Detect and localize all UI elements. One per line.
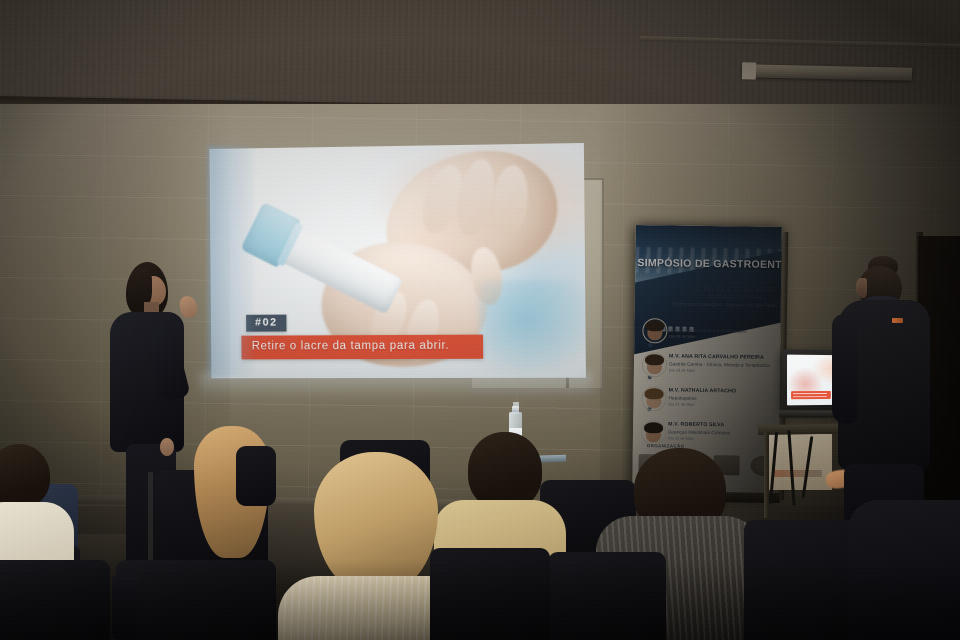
box-label (772, 470, 822, 477)
projection-screen: #02 Retire o lacre da tampa para abrir. (209, 143, 585, 378)
chair-black[interactable] (430, 548, 550, 640)
attendee-foreground-dark (848, 500, 960, 640)
chair-black[interactable] (116, 560, 276, 640)
equipment-box-under-table (768, 434, 832, 490)
attendee-shoulders (236, 446, 276, 506)
presenter-leg-gap (148, 472, 153, 568)
presenter-lower-hand (160, 438, 174, 456)
chair-black[interactable] (548, 552, 666, 640)
slide-caption: Retire o lacre da tampa para abrir. (242, 335, 484, 360)
ceiling-texture (0, 0, 960, 108)
ceiling (0, 0, 960, 108)
attendee-head (314, 452, 438, 592)
projected-slide: #02 Retire o lacre da tampa para abrir. (209, 143, 585, 378)
light-fixture-end-cap (742, 62, 756, 79)
attendant-badge (892, 318, 903, 323)
chair-armrest (112, 574, 138, 640)
attendant-arm (832, 314, 858, 424)
whiteboard-marker-tray (470, 388, 602, 393)
chair-black[interactable] (744, 520, 864, 640)
presenter-gesturing-hand (178, 295, 199, 320)
lecture-hall-photo: #02 Retire o lacre da tampa para abrir. … (0, 0, 960, 640)
table-leg (764, 432, 769, 518)
chair-black[interactable] (0, 560, 110, 640)
attendant-profile-edge (856, 278, 867, 298)
laptop-slide-caption-bar (791, 391, 831, 399)
attendee-head (468, 432, 542, 510)
slide-step-badge: #02 (246, 315, 287, 332)
